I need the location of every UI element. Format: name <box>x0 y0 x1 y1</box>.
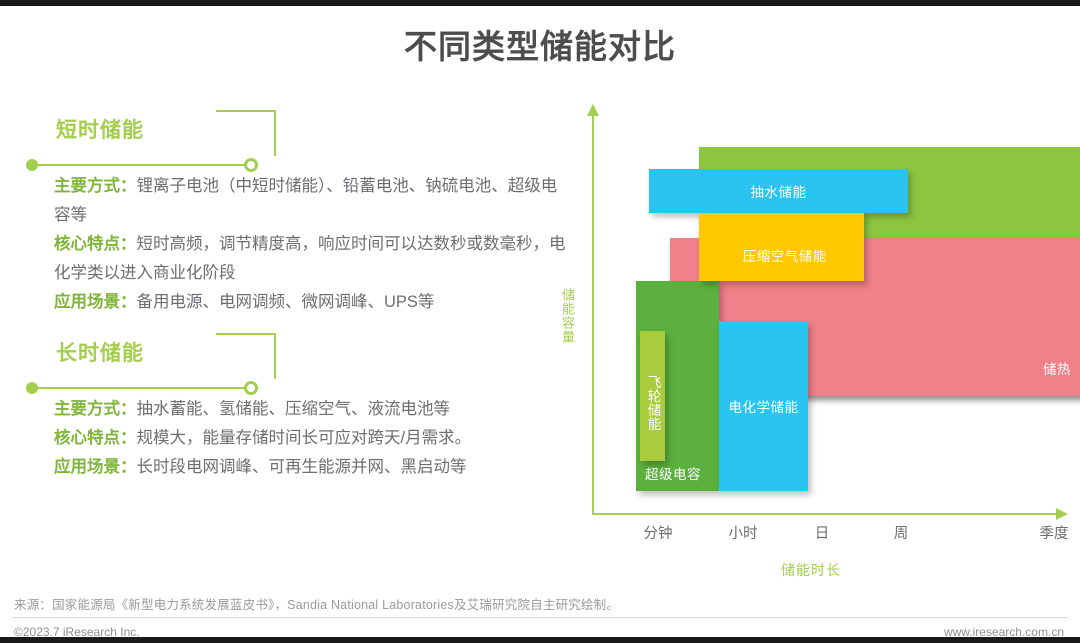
block-title: 长时储能 <box>56 337 144 367</box>
x-axis-tick-label: 分钟 <box>644 522 673 543</box>
rule-line <box>30 164 250 166</box>
info-row-label: 应用场景： <box>54 293 137 311</box>
block-short-duration-storage: 短时储能 主要方式：锂离子电池（中短时储能）、铅蓄电池、钠硫电池、超级电容等 核… <box>26 110 572 317</box>
info-row-text: 备用电源、电网调频、微网调峰、UPS等 <box>137 293 435 311</box>
slide-root: 不同类型储能对比 短时储能 主要方式：锂离子电池（中短时储能）、铅蓄电池、钠硫电… <box>0 0 1080 643</box>
info-row: 应用场景：备用电源、电网调频、微网调峰、UPS等 <box>54 288 572 317</box>
block-header: 长时储能 <box>26 333 572 395</box>
info-row-text: 长时段电网调峰、可再生能源并网、黑启动等 <box>137 458 467 476</box>
block-title: 短时储能 <box>56 114 144 144</box>
rule-dot-icon <box>26 159 38 171</box>
x-axis-ticks: 分钟小时日周季度 <box>556 522 1066 546</box>
chart-box: 电化学储能 <box>719 321 808 491</box>
storage-comparison-chart: 储能容量 储能时长 氢储能储热超级电容电化学储能飞轮储能抽水储能压缩空气储能 分… <box>556 110 1066 580</box>
block-rows: 主要方式：锂离子电池（中短时储能）、铅蓄电池、钠硫电池、超级电容等 核心特点：短… <box>26 172 572 317</box>
chart-box: 飞轮储能 <box>640 331 665 461</box>
chart-box-label: 超级电容 <box>645 463 701 483</box>
block-header: 短时储能 <box>26 110 572 172</box>
website-link[interactable]: www.iresearch.com.cn <box>944 625 1064 639</box>
chart-box: 抽水储能 <box>649 169 908 213</box>
rule-ring-icon <box>244 158 258 172</box>
info-row-label: 核心特点： <box>54 429 137 447</box>
info-row-label: 主要方式： <box>54 177 137 195</box>
chart-box-label: 电化学储能 <box>729 396 799 416</box>
chart-box: 压缩空气储能 <box>699 213 864 281</box>
block-rows: 主要方式：抽水蓄能、氢储能、压缩空气、液流电池等 核心特点：规模大，能量存储时间… <box>26 395 572 482</box>
info-row: 主要方式：抽水蓄能、氢储能、压缩空气、液流电池等 <box>54 395 572 424</box>
info-row-text: 抽水蓄能、氢储能、压缩空气、液流电池等 <box>137 400 451 418</box>
block-long-duration-storage: 长时储能 主要方式：抽水蓄能、氢储能、压缩空气、液流电池等 核心特点：规模大，能… <box>26 333 572 482</box>
info-row-label: 核心特点： <box>54 235 137 253</box>
rule-ring-icon <box>244 381 258 395</box>
rule-dot-icon <box>26 382 38 394</box>
left-text-panel: 短时储能 主要方式：锂离子电池（中短时储能）、铅蓄电池、钠硫电池、超级电容等 核… <box>26 110 572 496</box>
info-row: 主要方式：锂离子电池（中短时储能）、铅蓄电池、钠硫电池、超级电容等 <box>54 172 572 230</box>
x-axis-label: 储能时长 <box>556 560 1066 580</box>
chart-box-label: 储热 <box>1043 358 1071 378</box>
info-row: 核心特点：短时高频，调节精度高，响应时间可以达数秒或数毫秒，电化学类以进入商业化… <box>54 230 572 288</box>
x-axis-tick-label: 日 <box>815 522 830 543</box>
rule-line <box>30 387 250 389</box>
page-title: 不同类型储能对比 <box>0 20 1080 68</box>
info-row-label: 应用场景： <box>54 458 137 476</box>
x-axis-tick-label: 小时 <box>729 522 758 543</box>
x-axis-tick-label: 季度 <box>1040 522 1069 543</box>
x-axis-tick-label: 周 <box>894 522 909 543</box>
x-axis-line <box>592 513 1058 515</box>
bracket-decoration-icon <box>216 110 276 156</box>
info-row: 应用场景：长时段电网调峰、可再生能源并网、黑启动等 <box>54 453 572 482</box>
chart-box-label: 压缩空气储能 <box>743 245 827 265</box>
source-note: 来源：国家能源局《新型电力系统发展蓝皮书》，Sandia National La… <box>14 594 619 613</box>
copyright-text: ©2023.7 iResearch Inc. <box>14 625 140 639</box>
bracket-decoration-icon <box>216 333 276 379</box>
chart-box-label: 飞轮储能 <box>643 375 663 431</box>
footer-divider <box>12 617 1068 618</box>
info-row-text: 规模大，能量存储时间长可应对跨天/月需求。 <box>137 429 472 447</box>
chart-plot-area: 氢储能储热超级电容电化学储能飞轮储能抽水储能压缩空气储能 <box>556 110 1066 513</box>
info-row: 核心特点：规模大，能量存储时间长可应对跨天/月需求。 <box>54 424 572 453</box>
chart-box-label: 抽水储能 <box>751 181 807 201</box>
info-row-label: 主要方式： <box>54 400 137 418</box>
